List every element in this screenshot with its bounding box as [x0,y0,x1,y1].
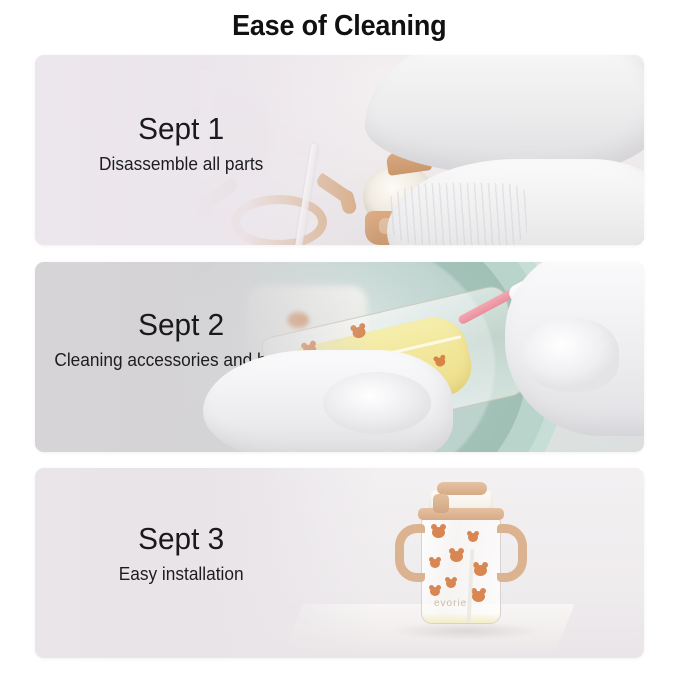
step-3-label: Sept 3 [41,522,322,556]
bottle-body: evorie [421,516,501,624]
page-title: Ease of Cleaning [232,10,446,43]
step-2-label: Sept 2 [41,308,322,342]
step-1-text-block: Sept 1 Disassemble all parts [35,112,327,176]
step-3-text-block: Sept 3 Easy installation [35,522,327,586]
bear-face-icon [468,533,478,542]
handle-ring-icon [231,195,327,245]
step-1-description: Disassemble all parts [41,153,322,176]
bottle-handle-left [395,524,425,582]
bear-face-icon [432,527,445,538]
bear-face-icon [165,91,178,102]
straw-icon [466,549,475,624]
step-panel-2[interactable]: evorie Sept 2 Cleaning accessories and b… [35,262,644,452]
step-3-description: Easy installation [41,563,322,586]
gloved-hand-right [505,262,644,436]
bear-face-icon [430,559,440,568]
gloved-hand-left [203,350,453,452]
assembled-bottle-icon: evorie [421,494,501,624]
bear-face-icon [450,551,463,562]
bottle-collar [418,508,504,520]
step-1-label: Sept 1 [41,112,322,146]
infographic-root: Ease of Cleaning [0,0,679,679]
title-bar: Ease of Cleaning [0,0,679,52]
bear-face-icon [430,587,440,596]
steps-panel-list: Sept 1 Disassemble all parts [0,52,679,679]
bottle-shadow [391,622,541,640]
step-panel-1[interactable]: Sept 1 Disassemble all parts [35,55,644,245]
bear-face-icon [472,591,485,602]
bear-face-icon [446,579,456,588]
bottle-brand-label: evorie [434,598,467,609]
cap-clip-icon [433,494,449,513]
glove-finger-creases [387,183,527,245]
step-panel-3[interactable]: evorie Sept 3 Easy installation [35,468,644,658]
bottle-handle-right [497,524,527,582]
bear-face-icon [474,565,487,576]
